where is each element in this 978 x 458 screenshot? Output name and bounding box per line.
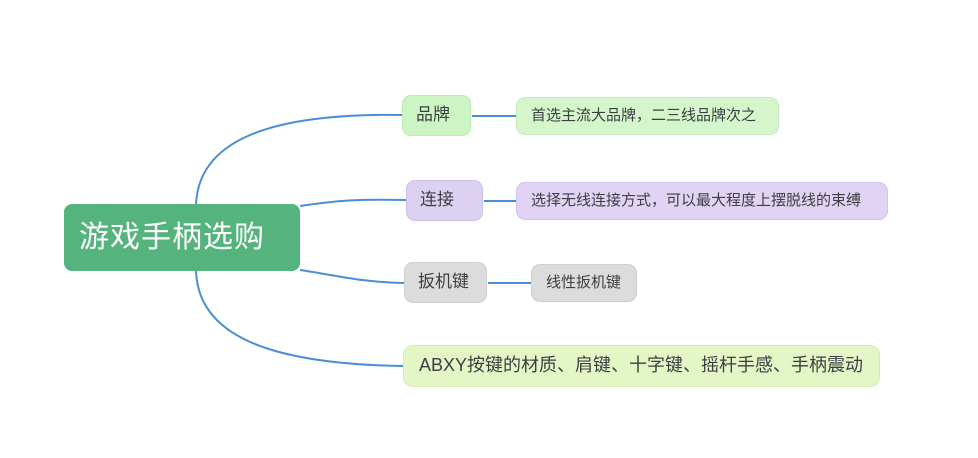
edge-root-to-connection	[300, 200, 406, 206]
edge-root-to-brand	[196, 115, 402, 208]
mindmap-branch-features[interactable]: ABXY按键的材质、肩键、十字键、摇杆手感、手柄震动	[403, 345, 880, 387]
mindmap-detail-connection[interactable]: 选择无线连接方式，可以最大程度上摆脱线的束缚	[516, 182, 888, 220]
mindmap-detail-brand-label: 首选主流大品牌，二三线品牌次之	[531, 107, 756, 125]
edge-root-to-trigger	[300, 270, 404, 283]
mindmap-branch-trigger-label: 扳机键	[418, 272, 469, 292]
mindmap-branch-brand[interactable]: 品牌	[402, 95, 471, 136]
mindmap-branch-connection-label: 连接	[420, 190, 454, 210]
edge-root-to-features	[196, 268, 403, 366]
mindmap-canvas: 游戏手柄选购 品牌 首选主流大品牌，二三线品牌次之 连接 选择无线连接方式，可以…	[0, 0, 978, 458]
mindmap-branch-trigger[interactable]: 扳机键	[404, 262, 487, 303]
mindmap-detail-trigger-label: 线性扳机键	[546, 274, 621, 292]
mindmap-detail-brand[interactable]: 首选主流大品牌，二三线品牌次之	[516, 97, 779, 135]
mindmap-branch-brand-label: 品牌	[416, 105, 450, 125]
mindmap-detail-connection-label: 选择无线连接方式，可以最大程度上摆脱线的束缚	[531, 192, 861, 210]
mindmap-root-node[interactable]: 游戏手柄选购	[64, 204, 300, 271]
mindmap-branch-features-label: ABXY按键的材质、肩键、十字键、摇杆手感、手柄震动	[419, 355, 863, 377]
mindmap-branch-connection[interactable]: 连接	[406, 180, 483, 221]
mindmap-detail-trigger[interactable]: 线性扳机键	[531, 264, 637, 302]
mindmap-root-label: 游戏手柄选购	[79, 220, 265, 256]
